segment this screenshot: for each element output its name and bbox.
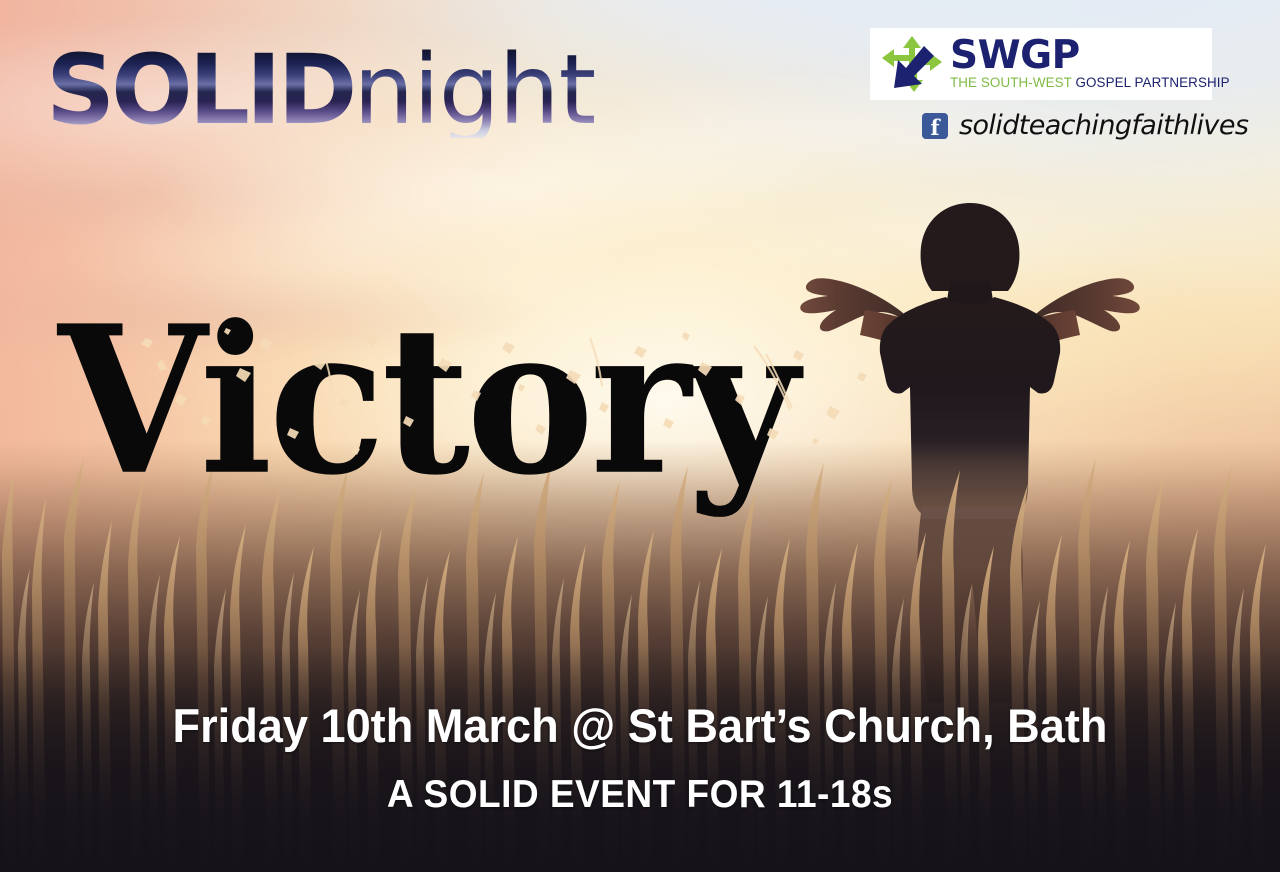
field-shadow [0, 647, 1280, 872]
facebook-handle-row[interactable]: f solidteachingfaithlives [922, 110, 1248, 141]
headline-text: Victory [58, 300, 795, 504]
four-way-arrows-icon [880, 34, 944, 94]
swgp-tagline-name: GOSPEL PARTNERSHIP [1076, 75, 1230, 90]
swgp-tagline-region: THE SOUTH-WEST [950, 75, 1072, 90]
solidnight-logo[interactable]: SOLIDnight [46, 42, 646, 152]
logo-word-solid: SOLID [46, 42, 353, 138]
facebook-icon[interactable]: f [922, 113, 948, 139]
page-title: Victory [58, 300, 795, 504]
event-poster: SOLIDnight Victory [0, 0, 1280, 872]
swgp-tagline: THE SOUTH-WEST GOSPEL PARTNERSHIP [950, 76, 1230, 91]
event-date-venue: Friday 10th March @ St Bart’s Church, Ba… [26, 702, 1255, 749]
event-audience: A SOLID EVENT FOR 11-18s [32, 775, 1248, 814]
swgp-acronym: SWGP [950, 37, 1230, 74]
logo-word-night: night [353, 42, 595, 138]
facebook-icon-glyph: f [922, 115, 948, 141]
swgp-logo[interactable]: SWGP THE SOUTH-WEST GOSPEL PARTNERSHIP [870, 28, 1212, 100]
facebook-handle-text: solidteachingfaithlives [959, 110, 1248, 141]
swgp-wordmark: SWGP THE SOUTH-WEST GOSPEL PARTNERSHIP [950, 37, 1230, 91]
